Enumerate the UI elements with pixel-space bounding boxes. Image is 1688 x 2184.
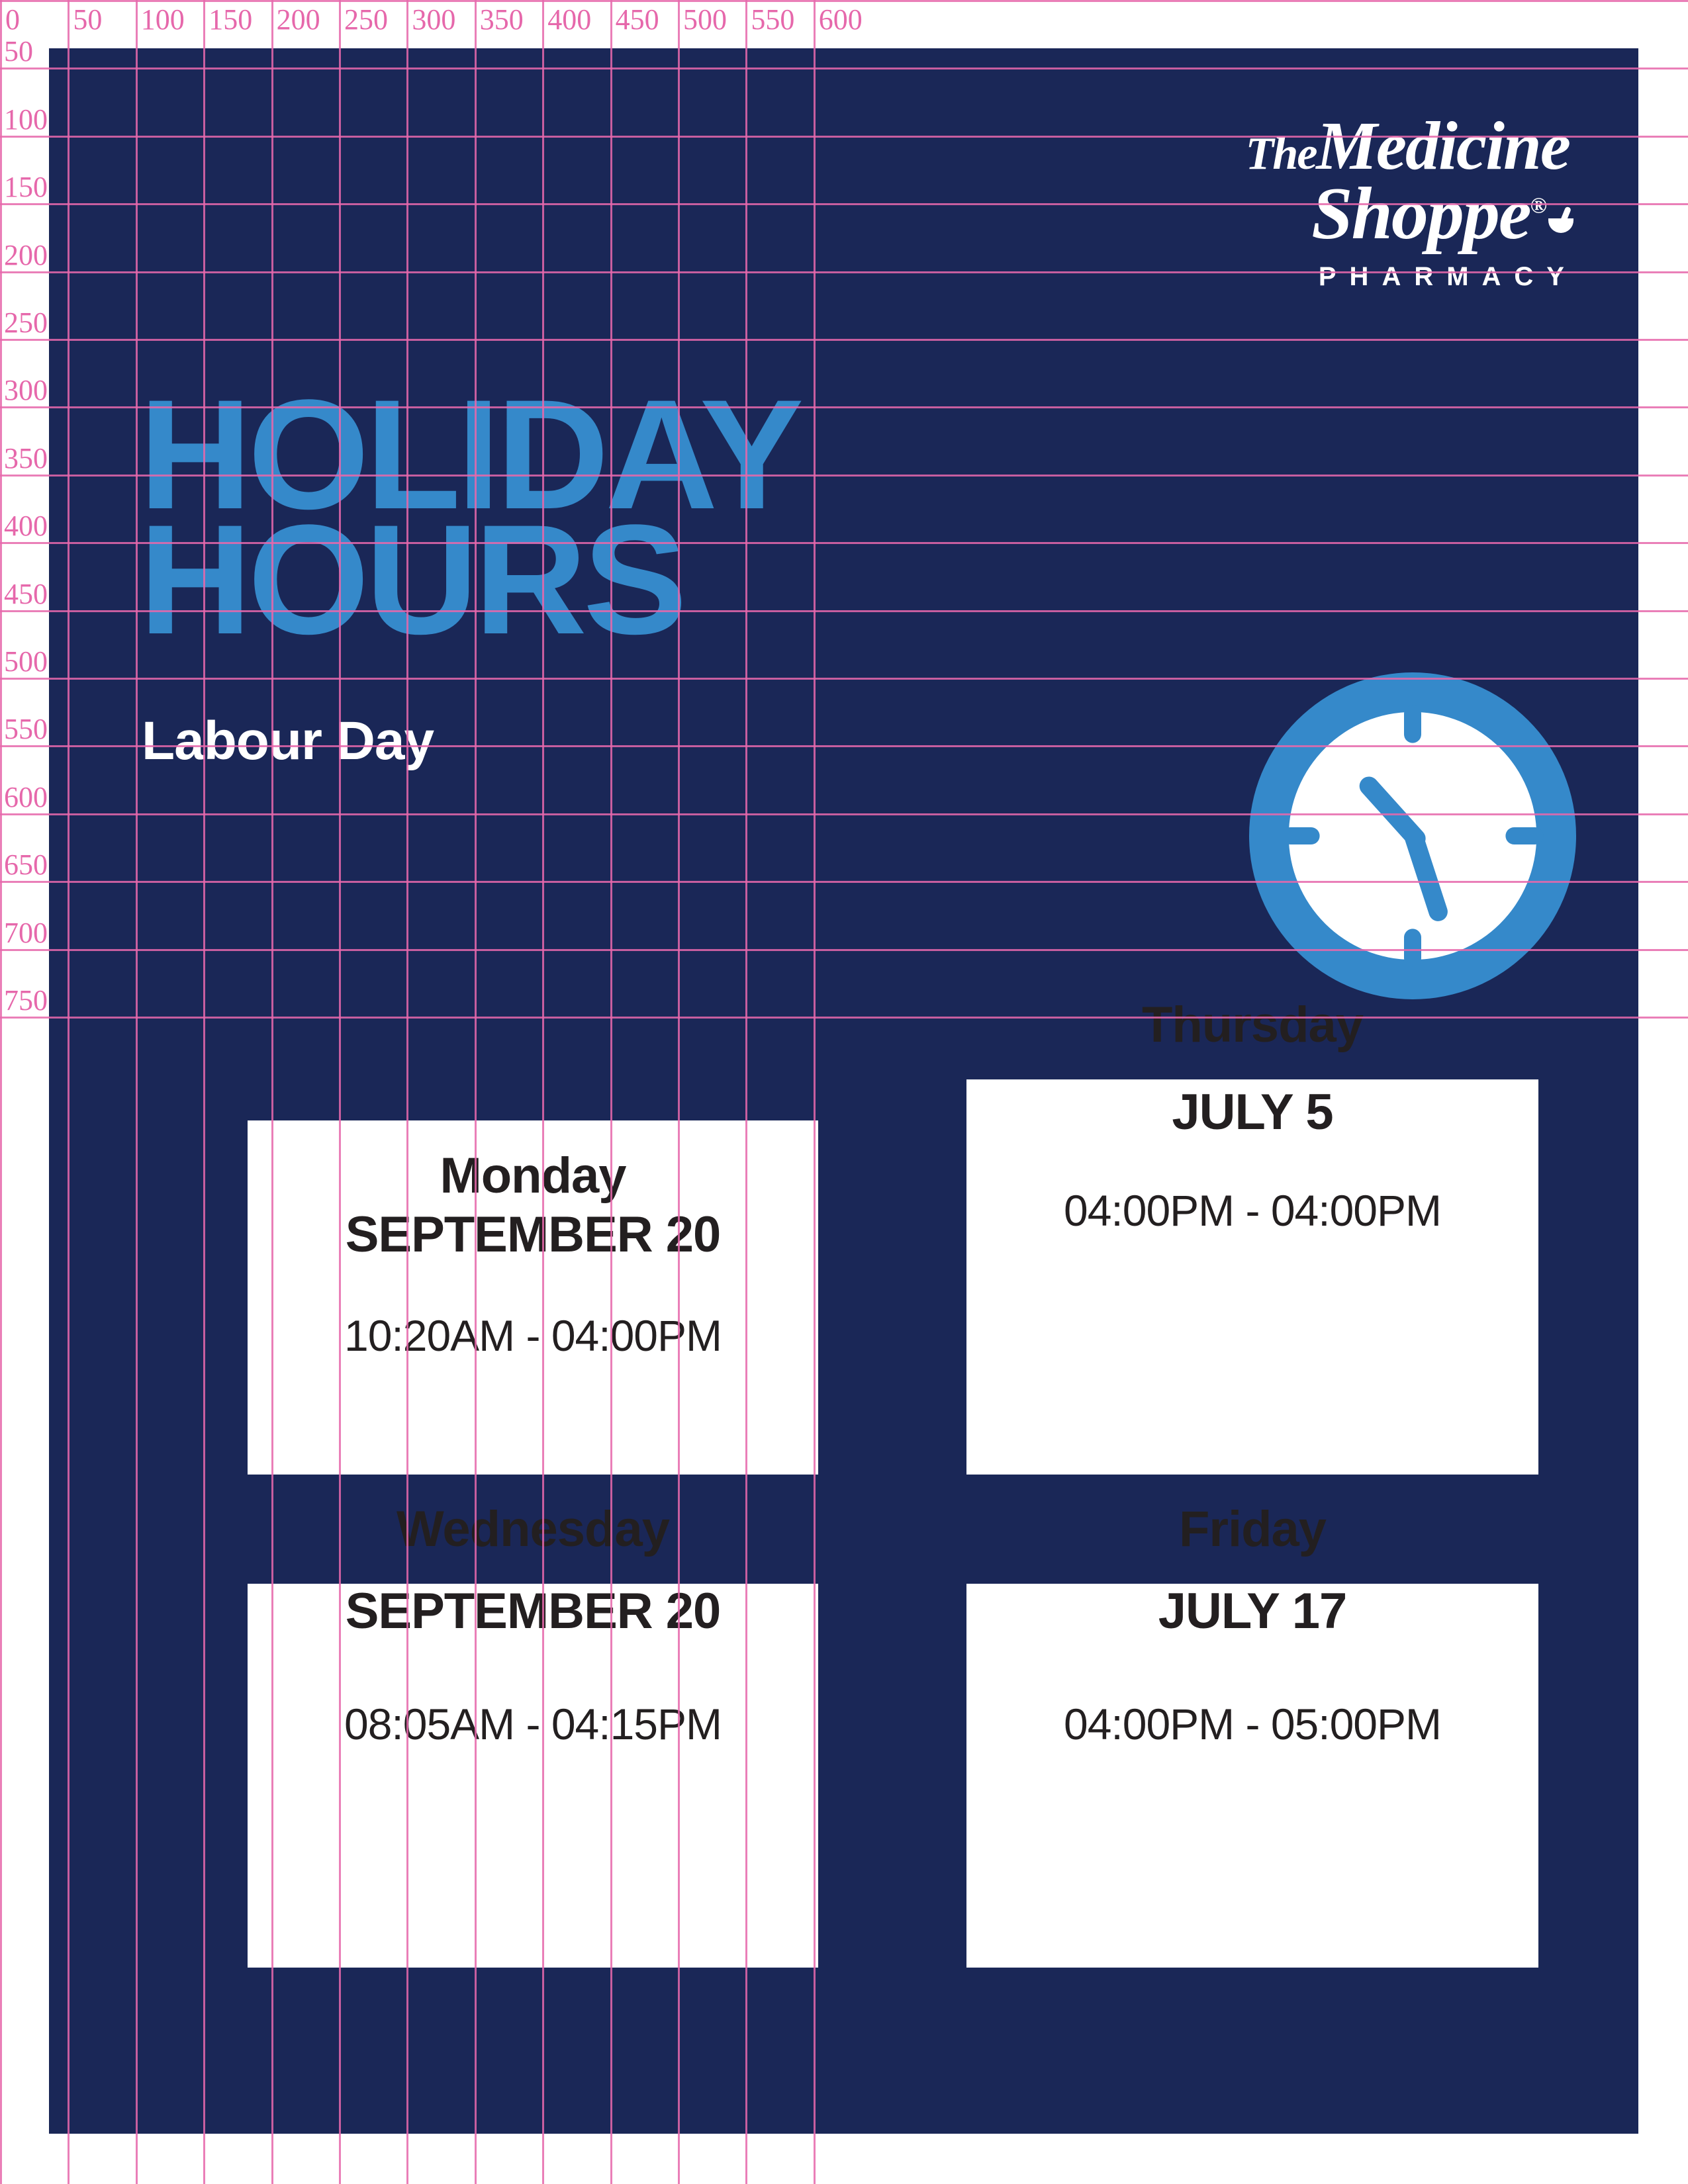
poster-background: TheMedicine Shoppe® PHARMACY HOLIDAY HOU… [49,48,1638,2134]
ruler-label-y: 350 [4,444,48,473]
registered-mark: ® [1530,193,1546,218]
page-subtitle: Labour Day [142,710,434,772]
ruler-label-x: 500 [683,5,727,34]
logo-line-medicine: TheMedicine [1142,114,1579,178]
ruler-label-x: 50 [73,5,102,34]
hours-card[interactable]: Monday SEPTEMBER 20 10:20AM - 04:00PM [248,1120,818,1475]
ruler-label-y: 200 [4,241,48,270]
ruler-label-y: 250 [4,308,48,338]
card-day-name: Wednesday [248,1500,818,1558]
card-date: SEPTEMBER 20 [248,1208,818,1261]
ruler-label-y: 100 [4,105,48,134]
ruler-label-y: 300 [4,376,48,405]
ruler-label-y: 650 [4,850,48,880]
brand-logo: TheMedicine Shoppe® PHARMACY [1142,114,1579,292]
mortar-pestle-icon [1546,208,1576,244]
hours-card[interactable]: Friday JULY 17 04:00PM - 05:00PM [966,1584,1538,1968]
logo-line-pharmacy: PHARMACY [1142,262,1579,292]
card-date: SEPTEMBER 20 [248,1585,818,1638]
card-day-name: Friday [966,1500,1538,1558]
ruler-label-x: 400 [547,5,591,34]
logo-line-shoppe: Shoppe® [1142,178,1579,251]
hours-card[interactable]: Wednesday SEPTEMBER 20 08:05AM - 04:15PM [248,1584,818,1968]
ruler-label-x: 550 [751,5,794,34]
ruler-label-x: 600 [819,5,863,34]
card-date: JULY 5 [966,1086,1538,1139]
ruler-label-x: 300 [412,5,455,34]
grid-line-vertical [0,0,2,2184]
ruler-label-x: 350 [480,5,524,34]
page-title: HOLIDAY HOURS [139,392,800,643]
card-day-name: Monday [248,1147,818,1205]
clock-icon [1241,664,1585,1008]
poster-page: TheMedicine Shoppe® PHARMACY HOLIDAY HOU… [0,0,1688,2184]
ruler-label-y: 600 [4,783,48,812]
ruler-label-y: 50 [4,37,33,66]
ruler-label-x: 100 [141,5,185,34]
ruler-label-y: 550 [4,715,48,744]
card-hours: 04:00PM - 04:00PM [966,1185,1538,1236]
ruler-label-x: 250 [344,5,388,34]
card-hours: 08:05AM - 04:15PM [248,1699,818,1749]
logo-word-shoppe: Shoppe [1311,173,1530,255]
ruler-label-x: 0 [5,5,20,34]
card-day-name: Thursday [966,996,1538,1054]
hours-card[interactable]: Thursday JULY 5 04:00PM - 04:00PM [966,1079,1538,1475]
ruler-label-y: 400 [4,512,48,541]
logo-word-the: The [1246,128,1317,179]
ruler-label-y: 450 [4,580,48,609]
card-hours: 04:00PM - 05:00PM [966,1699,1538,1749]
card-hours: 10:20AM - 04:00PM [248,1310,818,1361]
card-date: JULY 17 [966,1585,1538,1638]
ruler-label-y: 150 [4,173,48,202]
grid-line-horizontal [0,0,1688,2]
ruler-label-y: 500 [4,647,48,676]
ruler-label-y: 750 [4,986,48,1015]
ruler-label-x: 150 [209,5,252,34]
ruler-label-x: 200 [277,5,320,34]
ruler-label-y: 700 [4,919,48,948]
ruler-label-x: 450 [616,5,659,34]
